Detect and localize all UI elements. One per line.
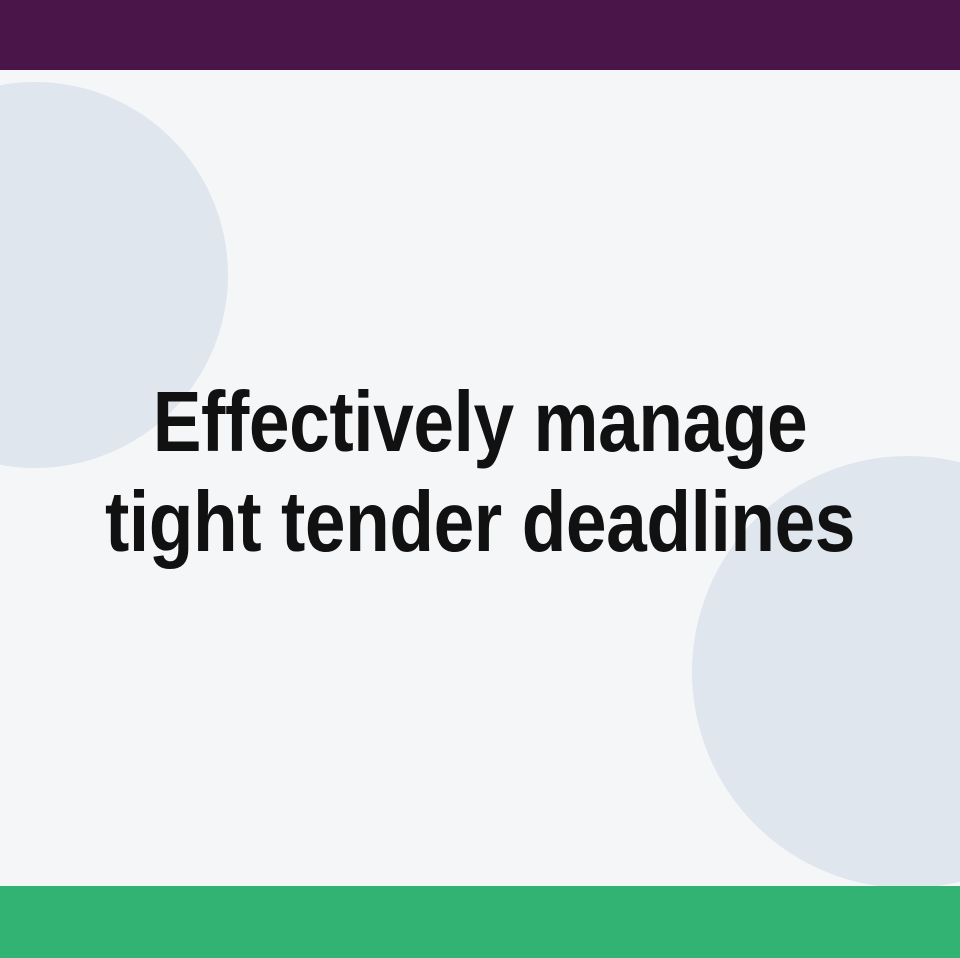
slide-canvas: Effectively manage tight tender deadline… (0, 0, 960, 958)
footer-band (0, 886, 960, 958)
top-left-blob-shape (0, 82, 228, 468)
bottom-right-blob-shape (692, 456, 960, 886)
decorative-shapes-layer (0, 70, 960, 886)
header-band (0, 0, 960, 70)
decorative-shapes-svg (0, 70, 960, 886)
